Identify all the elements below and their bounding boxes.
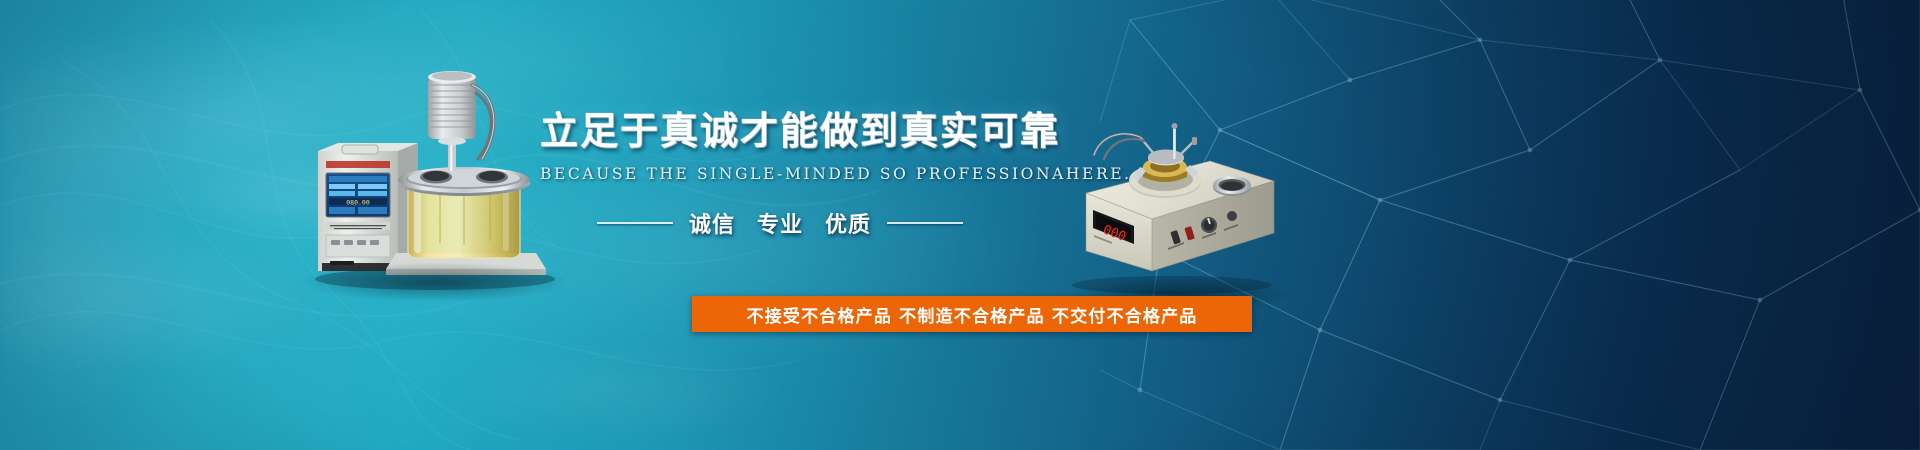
control-console: 080.00 (318, 143, 418, 271)
tagline-word-3: 优质 (825, 207, 871, 239)
quality-policy-bar: 不接受不合格产品 不制造不合格产品 不交付不合格产品 (692, 296, 1252, 332)
rule-right (887, 222, 963, 224)
flash-point-tester-apparatus: 000 (1060, 115, 1280, 300)
page-title: 立足于真诚才能做到真实可靠 (540, 112, 1020, 152)
viscometer-bath-apparatus: 080.00 (300, 55, 565, 290)
tagline-word-1: 诚信 (689, 207, 735, 239)
stirrer-motor (428, 71, 494, 171)
tagline-words: 诚信 专业 优质 (689, 207, 871, 239)
oil-bath-vessel (386, 167, 546, 275)
quality-policy-text: 不接受不合格产品 不制造不合格产品 不交付不合格产品 (746, 302, 1197, 327)
tagline-row: 诚信 专业 优质 (540, 207, 1020, 239)
promo-banner: 080.00 (0, 0, 1920, 450)
svg-text:080.00: 080.00 (346, 199, 370, 207)
sample-well (1213, 176, 1251, 196)
tagline-word-2: 专业 (757, 207, 803, 239)
banner-text-block: 立足于真诚才能做到真实可靠 BECAUSE THE SINGLE-MINDED … (540, 112, 1020, 239)
subtitle-english: BECAUSE THE SINGLE-MINDED SO PROFESSIONA… (540, 165, 1020, 183)
rule-left (597, 222, 673, 224)
